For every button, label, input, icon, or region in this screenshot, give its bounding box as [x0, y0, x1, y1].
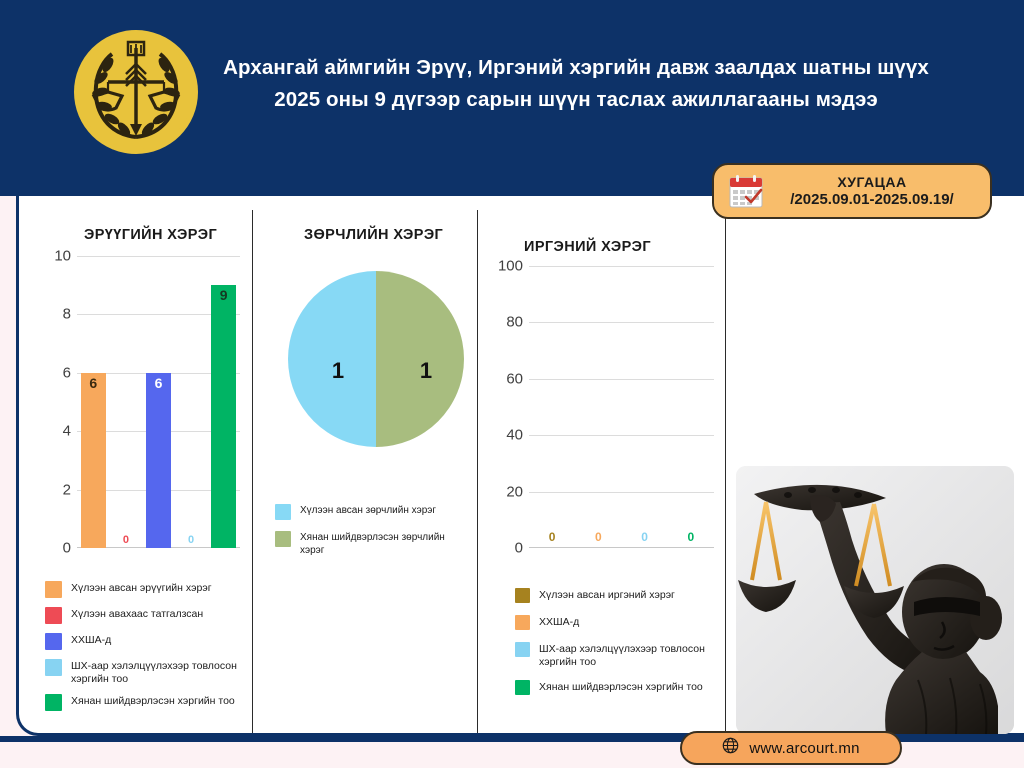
- gridline: [529, 266, 714, 267]
- legend-item-label: ХХШΑ-д: [71, 633, 111, 647]
- legend-color-swatch: [515, 588, 530, 603]
- y-tick-label: 60: [506, 370, 523, 387]
- legend-item[interactable]: ХХШΑ-д: [45, 633, 257, 650]
- bar[interactable]: 9: [211, 285, 236, 548]
- legend-color-swatch: [45, 633, 62, 650]
- criminal-chart-bars: 60609: [77, 256, 240, 548]
- legend-item[interactable]: Хянан шийдвэрлэсэн хэргийн тоо: [45, 694, 257, 711]
- criminal-chart-y-axis: 0246810: [37, 256, 71, 548]
- page-title-line-2: 2025 оны 9 дүгээр сарын шүүн таслах ажил…: [196, 84, 956, 116]
- legend-item[interactable]: Хүлээн авсан эрүүгийн хэрэг: [45, 581, 257, 598]
- legend-item[interactable]: Хүлээн авсан зөрчлийн хэрэг: [275, 504, 470, 520]
- infographic-page: Архангай аймгийн Эрүү, Иргэний хэргийн д…: [0, 0, 1024, 768]
- legend-color-swatch: [45, 581, 62, 598]
- bar-value-label: 6: [81, 375, 106, 391]
- legend-color-swatch: [515, 680, 530, 695]
- legend-item-label: Хүлээн авсан зөрчлийн хэрэг: [300, 504, 436, 518]
- legend-item-label: Хянан шийдвэрлэсэн хэргийн тоо: [539, 680, 703, 694]
- bar-value-label: 0: [110, 534, 143, 546]
- legend-item[interactable]: ХХШΑ-д: [515, 615, 730, 630]
- legend-item[interactable]: ШХ-аар хэлэлцүүлэхээр товлосон хэргийн т…: [515, 642, 730, 668]
- legend-color-swatch: [45, 607, 62, 624]
- legend-item-label: Хүлээн авсан эрүүгийн хэрэг: [71, 581, 212, 595]
- legend-item-label: Хүлээн авсан иргэний хэрэг: [539, 588, 675, 602]
- bar[interactable]: 6: [146, 373, 171, 548]
- y-tick-label: 10: [54, 248, 71, 265]
- y-tick-label: 8: [63, 306, 71, 323]
- bar-value-label: 6: [146, 375, 171, 391]
- violation-pie-chart: 1 1: [269, 271, 469, 471]
- legend-item[interactable]: ШХ-аар хэлэлцүүлэхээр товлосон хэргийн т…: [45, 659, 257, 685]
- y-tick-label: 2: [63, 481, 71, 498]
- civil-chart-legend: Хүлээн авсан иргэний хэрэгХХШΑ-дШХ-аар х…: [515, 588, 730, 707]
- gridline: [529, 435, 714, 436]
- y-tick-label: 0: [515, 540, 523, 557]
- legend-item[interactable]: Хянан шийдвэрлэсэн зөрчлийн хэрэг: [275, 531, 470, 557]
- website-badge[interactable]: www.arcourt.mn: [680, 731, 902, 765]
- civil-bar-chart: 020406080100 0000: [479, 266, 719, 566]
- globe-icon: [722, 737, 739, 759]
- legend-item-label: ШХ-аар хэлэлцүүлэхээр товлосон хэргийн т…: [539, 642, 730, 668]
- legend-color-swatch: [45, 694, 62, 711]
- gridline: [529, 322, 714, 323]
- bar-value-label: 0: [529, 530, 575, 544]
- legend-item-label: Хянан шийдвэрлэсэн зөрчлийн хэрэг: [300, 531, 470, 557]
- page-title: Архангай аймгийн Эрүү, Иргэний хэргийн д…: [196, 52, 956, 116]
- criminal-chart-legend: Хүлээн авсан эрүүгийн хэрэгХүлээн авахаа…: [45, 581, 257, 720]
- website-url-text: www.arcourt.mn: [749, 740, 859, 757]
- bar-value-label: 0: [622, 530, 668, 544]
- legend-item-label: Хянан шийдвэрлэсэн хэргийн тоо: [71, 694, 235, 708]
- bar-slot: 9: [207, 256, 240, 548]
- panel-divider-2: [477, 210, 478, 733]
- chart-title-violation: ЗӨРЧЛИЙН ХЭРЭГ: [304, 227, 443, 243]
- y-tick-label: 100: [498, 258, 523, 275]
- violation-chart-legend: Хүлээн авсан зөрчлийн хэрэгХянан шийдвэр…: [275, 504, 470, 568]
- chart-title-civil: ИРГЭНИЙ ХЭРЭГ: [524, 239, 651, 255]
- date-badge-label: ХУГАЦАА: [764, 173, 980, 191]
- bar-value-label: 9: [211, 287, 236, 303]
- civil-chart-plot: 0000: [529, 266, 714, 548]
- scales-of-justice-emblem-icon: [78, 34, 194, 150]
- bar-slot: 6: [77, 256, 110, 548]
- legend-item-label: Хүлээн авахаас татгалзсан: [71, 607, 203, 621]
- chart-title-criminal: ЭРҮҮГИЙН ХЭРЭГ: [84, 227, 217, 243]
- page-title-line-1: Архангай аймгийн Эрүү, Иргэний хэргийн д…: [223, 56, 929, 79]
- pie-value-resolved: 1: [376, 358, 476, 384]
- lady-justice-icon: [736, 466, 1014, 734]
- legend-color-swatch: [45, 659, 62, 676]
- court-emblem-logo: [74, 30, 198, 154]
- criminal-chart-plot: 60609: [77, 256, 240, 548]
- y-tick-label: 40: [506, 427, 523, 444]
- legend-color-swatch: [515, 642, 530, 657]
- legend-item[interactable]: Хүлээн авахаас татгалзсан: [45, 607, 257, 624]
- date-badge-range: /2025.09.01-2025.09.19/: [764, 191, 980, 209]
- legend-color-swatch: [275, 531, 291, 547]
- bar-slot: 6: [142, 256, 175, 548]
- civil-chart-y-axis: 020406080100: [479, 266, 523, 548]
- bar-slot: 0: [110, 256, 143, 548]
- legend-item[interactable]: Хүлээн авсан иргэний хэрэг: [515, 588, 730, 603]
- lady-justice-statue-image: [736, 466, 1014, 734]
- pie-value-received: 1: [288, 358, 388, 384]
- calendar-icon: [728, 173, 764, 209]
- bar[interactable]: 6: [81, 373, 106, 548]
- y-tick-label: 20: [506, 483, 523, 500]
- y-tick-label: 6: [63, 364, 71, 381]
- legend-item-label: ШХ-аар хэлэлцүүлэхээр товлосон хэргийн т…: [71, 659, 257, 685]
- legend-color-swatch: [515, 615, 530, 630]
- y-tick-label: 80: [506, 314, 523, 331]
- bar-value-label: 0: [175, 534, 208, 546]
- gridline: [529, 379, 714, 380]
- legend-color-swatch: [275, 504, 291, 520]
- civil-chart-values: 0000: [529, 530, 714, 544]
- gridline: [529, 492, 714, 493]
- bar-value-label: 0: [575, 530, 621, 544]
- bar-value-label: 0: [668, 530, 714, 544]
- bar-slot: 0: [175, 256, 208, 548]
- legend-item[interactable]: Хянан шийдвэрлэсэн хэргийн тоо: [515, 680, 730, 695]
- date-range-badge[interactable]: ХУГАЦАА /2025.09.01-2025.09.19/: [712, 163, 992, 219]
- legend-item-label: ХХШΑ-д: [539, 615, 579, 629]
- civil-chart-axis-line: [529, 547, 714, 548]
- y-tick-label: 0: [63, 540, 71, 557]
- criminal-bar-chart: 0246810 60609: [37, 256, 242, 566]
- y-tick-label: 4: [63, 423, 71, 440]
